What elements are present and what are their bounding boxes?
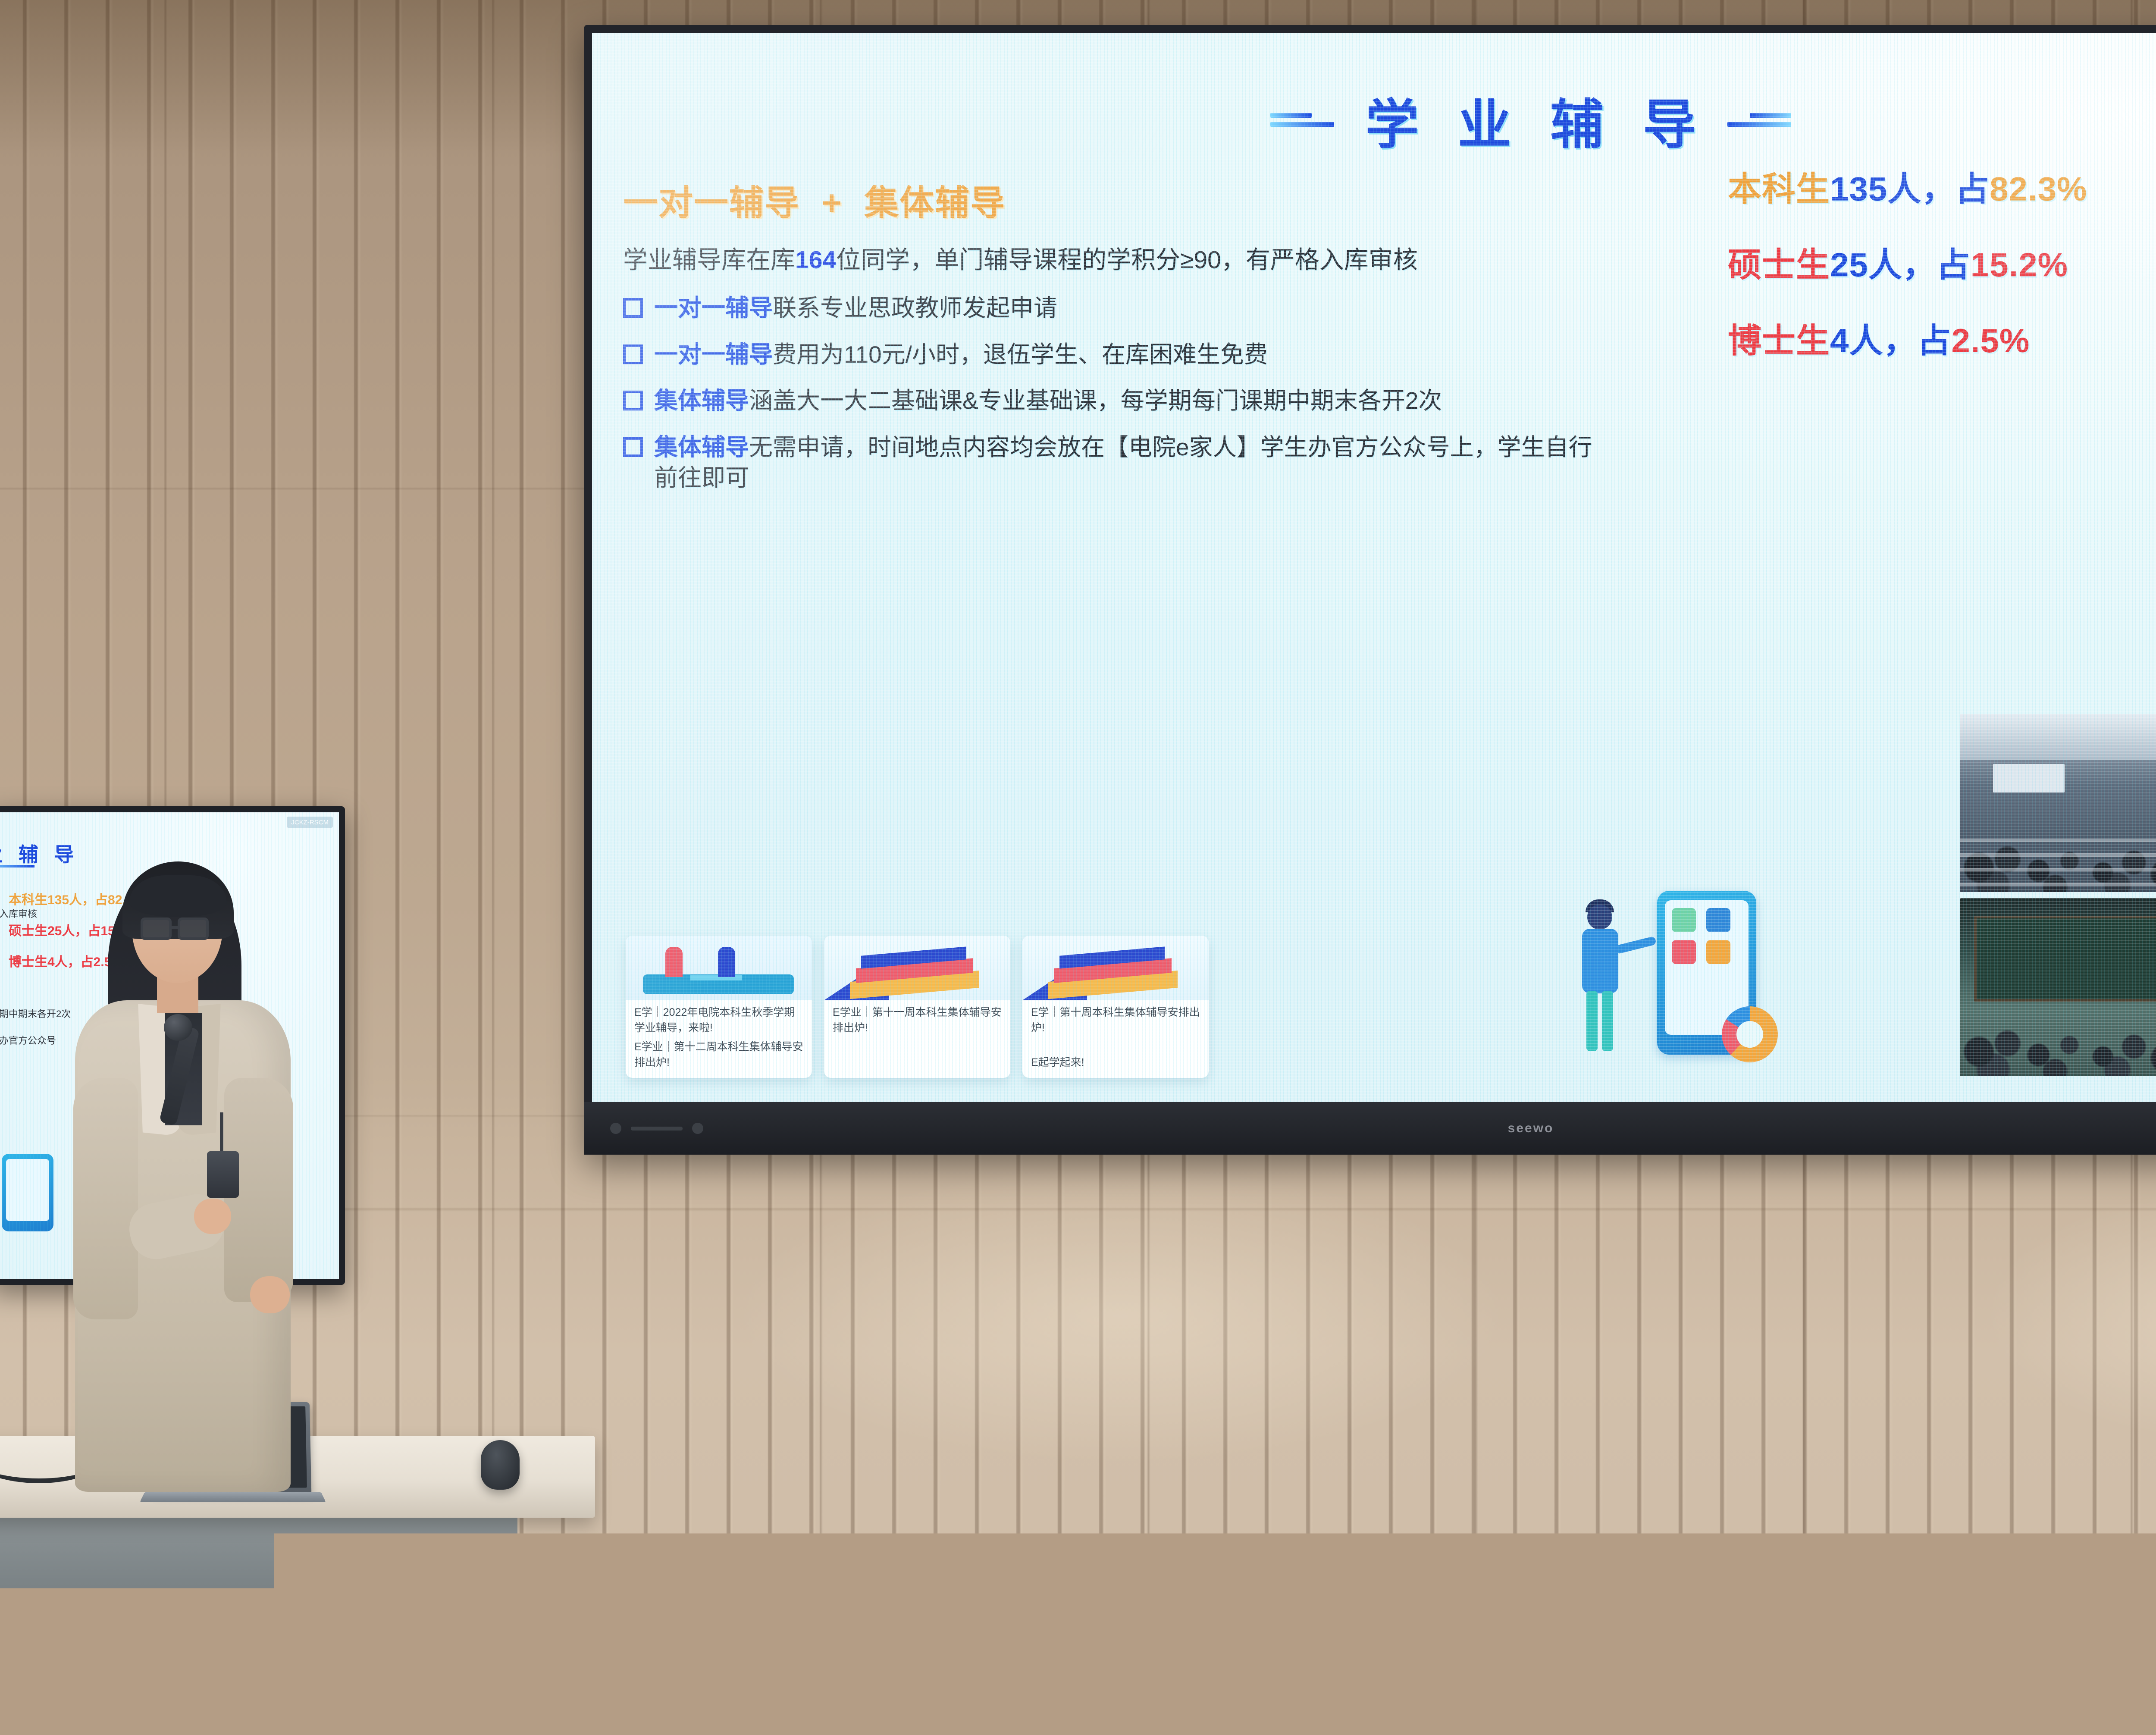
stat-zhan: 占 bbox=[1917, 322, 1951, 360]
bullet-text: 无需申请，时间地点内容均会放在【电院e家人】学生办官方公众号上，学生自行前往即可 bbox=[654, 434, 1592, 492]
bullet-text: 费用为110元/小时，退伍学生、在库困难生免费 bbox=[773, 341, 1268, 368]
stat-percent: 15.2% bbox=[1971, 246, 2068, 284]
lecture-hall-room: JCKZ-RSCM ! 学 业 辅 导 bbox=[0, 0, 2156, 1735]
article-card[interactable]: E学业｜第十一周本科生集体辅导安排出炉! bbox=[824, 936, 1010, 1078]
card-illustration-books bbox=[824, 936, 1010, 1000]
checkbox-icon[interactable] bbox=[623, 437, 643, 457]
stat-percent: 82.3% bbox=[1990, 170, 2087, 208]
stat-row-master: 硕士生25人，占15.2% bbox=[1728, 238, 2156, 286]
card-illustration-study-room bbox=[626, 936, 812, 1000]
card-illustration-books-2 bbox=[1022, 936, 1209, 1000]
lead-after: 位同学，单门辅导课程的学积分≥90，有严格入库审核 bbox=[836, 246, 1418, 274]
bullet-text: 联系专业思政教师发起申请 bbox=[773, 294, 1057, 321]
stat-count: 135人， bbox=[1830, 170, 1955, 208]
display-bezel-bottom: seewo bbox=[584, 1102, 2156, 1155]
stat-zhan: 占 bbox=[1937, 246, 1971, 284]
checkbox-icon[interactable] bbox=[623, 391, 643, 410]
bullet-key: 一对一辅导 bbox=[654, 341, 773, 368]
card-caption: E学｜第十周本科生集体辅导安排出炉! bbox=[1031, 1005, 1202, 1036]
page-title: 学 业 辅 导 bbox=[1353, 81, 1708, 159]
slide-title-row: 学 业 辅 导 bbox=[592, 81, 2156, 159]
statistics-column: 本科生135人，占82.3% 硕士生25人，占15.2% 博士生4人，占2.5% bbox=[1728, 162, 2156, 390]
checkbox-icon[interactable] bbox=[623, 298, 643, 318]
id-badge bbox=[207, 1151, 239, 1198]
donut-chart-graphic bbox=[1722, 1006, 1778, 1062]
eyeglasses bbox=[141, 918, 172, 940]
blackboard-class-photo bbox=[1960, 898, 2156, 1076]
left-content-column: 一对一辅导 + 集体辅导 学业辅导库在库164位同学，单门辅导课程的学积分≥90… bbox=[623, 175, 1623, 509]
title-dash-right bbox=[1727, 113, 1791, 127]
article-card[interactable]: E学｜第十周本科生集体辅导安排出炉! E起学起来! bbox=[1022, 936, 1209, 1078]
title-dash-left bbox=[1270, 113, 1334, 127]
lead-before: 学业辅导库在库 bbox=[623, 246, 795, 274]
stat-label: 本科生 bbox=[1728, 170, 1830, 208]
section-subheading: 一对一辅导 + 集体辅导 bbox=[623, 175, 1623, 225]
stat-zhan: 占 bbox=[1955, 170, 1990, 208]
display-screen[interactable]: JCKZ-RSCM ! 学 业 辅 导 bbox=[592, 33, 2156, 1102]
stat-row-phd: 博士生4人，占2.5% bbox=[1728, 314, 2156, 362]
bullet-key: 集体辅导 bbox=[654, 434, 749, 460]
display-brand-label: seewo bbox=[1508, 1121, 1554, 1136]
card-caption-secondary: E学业｜第十二周本科生集体辅导安排出炉! bbox=[634, 1039, 805, 1071]
phone-illustration bbox=[1549, 860, 1774, 1062]
lead-count: 164 bbox=[795, 246, 836, 274]
wall-light-reflection bbox=[733, 1164, 1509, 1466]
subheading-plus: + bbox=[810, 184, 854, 222]
stat-percent: 2.5% bbox=[1951, 322, 2030, 360]
interactive-smart-display[interactable]: JCKZ-RSCM ! 学 业 辅 导 bbox=[584, 25, 2156, 1155]
stat-row-undergrad: 本科生135人，占82.3% bbox=[1728, 162, 2156, 210]
mouse[interactable] bbox=[481, 1440, 520, 1490]
bullet-item: 集体辅导无需申请，时间地点内容均会放在【电院e家人】学生办官方公众号上，学生自行… bbox=[623, 432, 1623, 494]
card-caption: E学业｜第十一周本科生集体辅导安排出炉! bbox=[833, 1005, 1003, 1036]
article-card[interactable]: E学｜2022年电院本科生秋季学期学业辅导，来啦! E学业｜第十二周本科生集体辅… bbox=[626, 936, 812, 1078]
bullet-item: 一对一辅导联系专业思政教师发起申请 bbox=[623, 293, 1623, 324]
bullet-key: 集体辅导 bbox=[654, 387, 749, 414]
photo-grid bbox=[1960, 714, 2156, 1076]
checkbox-icon[interactable] bbox=[623, 344, 643, 364]
stat-label: 博士生 bbox=[1728, 322, 1830, 360]
bullet-item: 一对一辅导费用为110元/小时，退伍学生、在库困难生免费 bbox=[623, 339, 1623, 370]
subheading-left: 一对一辅导 bbox=[623, 184, 800, 222]
lead-paragraph: 学业辅导库在库164位同学，单门辅导课程的学积分≥90，有严格入库审核 bbox=[623, 245, 1623, 276]
slide-content: JCKZ-RSCM ! 学 业 辅 导 bbox=[592, 33, 2156, 1102]
stat-label: 硕士生 bbox=[1728, 246, 1830, 284]
classroom-lecture-photo bbox=[1960, 714, 2156, 892]
subheading-right: 集体辅导 bbox=[864, 184, 1006, 222]
stat-count: 25人， bbox=[1830, 246, 1937, 284]
bullet-text: 涵盖大一大二基础课&专业基础课，每学期每门课期中期末各开2次 bbox=[749, 387, 1442, 414]
card-caption: E学｜2022年电院本科生秋季学期学业辅导，来啦! bbox=[634, 1005, 805, 1036]
display-controls[interactable] bbox=[610, 1123, 703, 1134]
wechat-article-cards: E学｜2022年电院本科生秋季学期学业辅导，来啦! E学业｜第十二周本科生集体辅… bbox=[626, 936, 1209, 1078]
presenter bbox=[65, 811, 349, 1735]
bullet-item: 集体辅导涵盖大一大二基础课&专业基础课，每学期每门课期中期末各开2次 bbox=[623, 385, 1623, 417]
bullet-key: 一对一辅导 bbox=[654, 294, 773, 321]
person-graphic bbox=[1565, 905, 1638, 1051]
stat-count: 4人， bbox=[1830, 322, 1917, 360]
card-caption-secondary: E起学起来! bbox=[1031, 1055, 1202, 1070]
